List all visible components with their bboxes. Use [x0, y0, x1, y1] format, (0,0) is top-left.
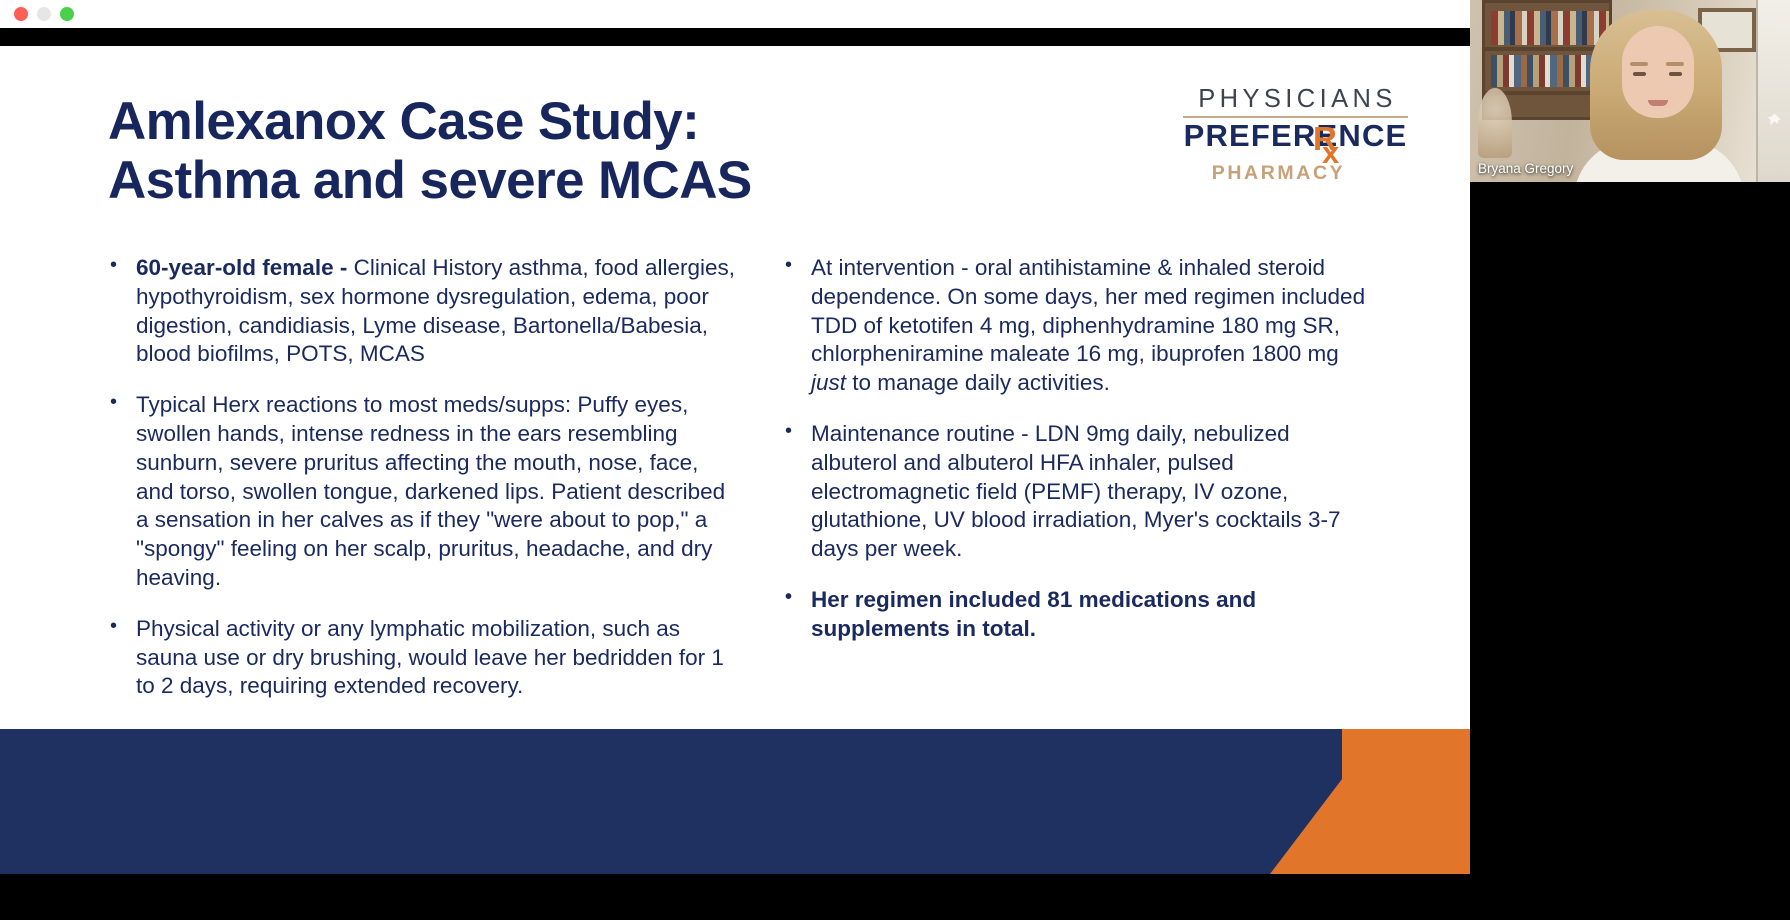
participant-name-label: Bryana Gregory	[1478, 161, 1573, 176]
background-door	[1756, 0, 1790, 182]
logo-text-pharmacy: PHARMACY	[1183, 163, 1408, 183]
slide-body-columns: 60-year-old female - Clinical History as…	[0, 254, 1470, 701]
person-eye-left	[1633, 72, 1646, 76]
logo-preference-row: PREFERENCE Rx	[1183, 120, 1408, 154]
bullet-body-text: Maintenance routine - LDN 9mg daily, neb…	[811, 421, 1341, 561]
bullet-lead-text: 60-year-old female -	[136, 255, 354, 280]
list-item: Her regimen included 81 medications and …	[775, 586, 1375, 644]
left-bullet-list: 60-year-old female - Clinical History as…	[100, 254, 740, 701]
person-eyebrow-left	[1630, 62, 1648, 66]
person-eyebrow-right	[1666, 62, 1684, 66]
bullet-body-text: At intervention - oral antihistamine & i…	[811, 255, 1365, 366]
books-row-top	[1491, 11, 1609, 45]
bullet-italic-text: just	[811, 370, 846, 395]
list-item: Maintenance routine - LDN 9mg daily, neb…	[775, 420, 1375, 564]
slide-title-line-1: Amlexanox Case Study:	[108, 92, 1008, 151]
logo-text-physicians: PHYSICIANS	[1183, 86, 1408, 113]
list-item: At intervention - oral antihistamine & i…	[775, 254, 1375, 398]
person-eye-right	[1669, 72, 1682, 76]
slide-title: Amlexanox Case Study: Asthma and severe …	[108, 92, 1008, 211]
logo-text-preference: PREFERENCE	[1183, 120, 1408, 153]
meeting-side-panel: Bryana Gregory	[1470, 0, 1790, 920]
footer-orange-wedge	[1270, 729, 1470, 874]
list-item: 60-year-old female - Clinical History as…	[100, 254, 740, 369]
slide-footer-band	[0, 729, 1470, 874]
letterbox-bar	[0, 28, 1470, 46]
person-mouth	[1648, 100, 1668, 106]
window-close-button[interactable]	[14, 7, 28, 21]
list-item: Typical Herx reactions to most meds/supp…	[100, 391, 740, 593]
list-item: Physical activity or any lymphatic mobil…	[100, 615, 740, 701]
rx-icon: Rx	[1313, 122, 1337, 155]
left-column: 60-year-old female - Clinical History as…	[100, 254, 740, 701]
presentation-slide[interactable]: Amlexanox Case Study: Asthma and severe …	[0, 46, 1470, 874]
bullet-body-text-cont: to manage daily activities.	[846, 370, 1110, 395]
window-maximize-button[interactable]	[60, 7, 74, 21]
bullet-body-text: Her regimen included 81 medications and …	[811, 587, 1256, 641]
window-minimize-button[interactable]	[37, 7, 51, 21]
pin-icon[interactable]	[1764, 112, 1782, 130]
bullet-body-text: Physical activity or any lymphatic mobil…	[136, 616, 724, 699]
decor-lamp	[1478, 88, 1512, 158]
slide-title-line-2: Asthma and severe MCAS	[108, 151, 1008, 210]
bullet-body-text: Typical Herx reactions to most meds/supp…	[136, 392, 725, 590]
webcam-tile[interactable]: Bryana Gregory	[1470, 0, 1790, 182]
right-column: At intervention - oral antihistamine & i…	[775, 254, 1375, 701]
rx-letter-x: x	[1322, 137, 1339, 168]
right-bullet-list: At intervention - oral antihistamine & i…	[775, 254, 1375, 644]
window-titlebar	[0, 0, 1470, 28]
screen-root: Amlexanox Case Study: Asthma and severe …	[0, 0, 1790, 920]
physicians-preference-pharmacy-logo: PHYSICIANS PREFERENCE Rx PHARMACY	[1183, 86, 1408, 183]
